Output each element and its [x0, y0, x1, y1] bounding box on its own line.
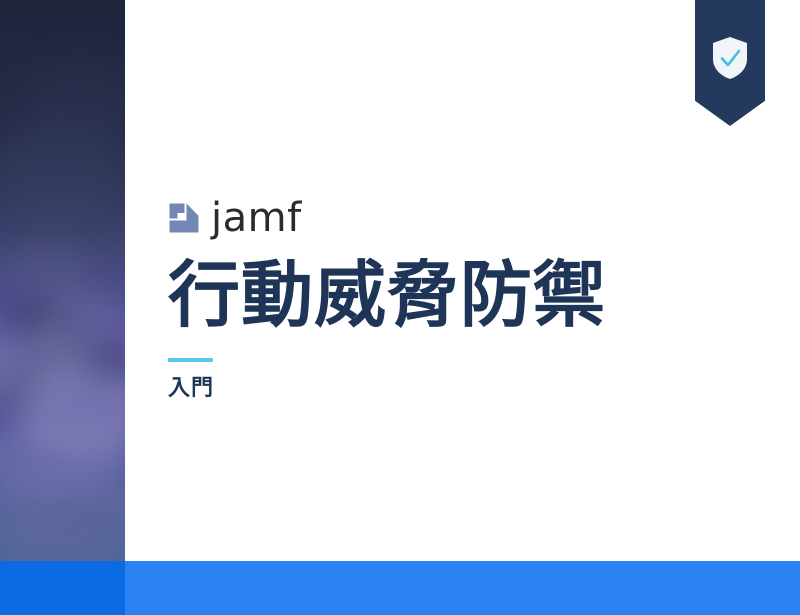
- accent-rule-divider: [168, 358, 213, 362]
- shield-ribbon-badge: [695, 0, 765, 126]
- brand-lockup: jamf: [168, 196, 708, 240]
- content-block: jamf 行動威脅防禦 入門: [168, 196, 708, 402]
- shield-check-icon: [712, 36, 748, 80]
- left-image-strip: [0, 0, 125, 561]
- footer-bar-right: [125, 561, 800, 615]
- page-title: 行動威脅防禦: [168, 254, 708, 336]
- jamf-logo-mark-icon: [168, 202, 200, 234]
- slide-canvas: jamf 行動威脅防禦 入門: [0, 0, 800, 615]
- jamf-wordmark: jamf: [211, 198, 302, 238]
- page-subtitle: 入門: [168, 376, 708, 402]
- footer-bar-left: [0, 561, 125, 615]
- strip-top-veil: [0, 0, 125, 561]
